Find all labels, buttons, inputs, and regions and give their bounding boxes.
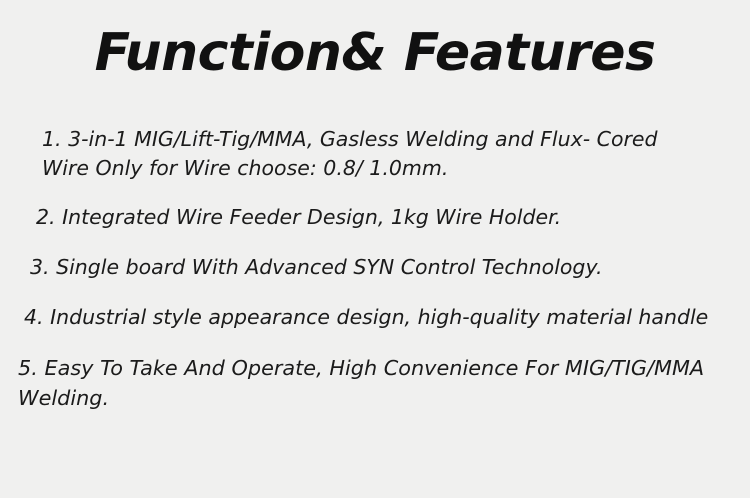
- feature-list-item-2: 2. Integrated Wire Feeder Design, 1kg Wi…: [0, 203, 750, 232]
- feature-list-item-1: 1. 3-in-1 MIG/Lift-Tig/MMA, Gasless Weld…: [0, 125, 750, 183]
- product-feature-panel: Function& Features 1. 3-in-1 MIG/Lift-Ti…: [0, 0, 750, 498]
- feature-list-item-4: 4. Industrial style appearance design, h…: [0, 303, 750, 332]
- features-list: 1. 3-in-1 MIG/Lift-Tig/MMA, Gasless Weld…: [0, 104, 750, 413]
- page-title: Function& Features: [0, 24, 750, 82]
- feature-list-item-3: 3. Single board With Advanced SYN Contro…: [0, 253, 750, 282]
- feature-list-item-5: 5. Easy To Take And Operate, High Conven…: [0, 353, 750, 413]
